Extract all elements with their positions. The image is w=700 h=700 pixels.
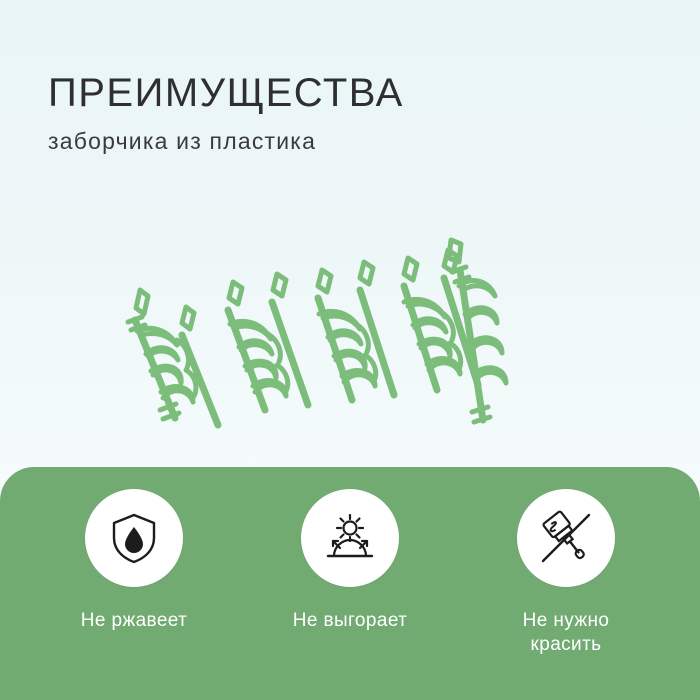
benefit-caption: Не выгорает (293, 609, 408, 633)
benefits-row: Не ржавеет (0, 489, 700, 657)
water-drop-shield-icon (106, 510, 162, 566)
page-subtitle: заборчика из пластика (48, 128, 648, 155)
benefit-icon-circle (85, 489, 183, 587)
paint-brush-crossed-icon (537, 509, 595, 567)
benefit-no-rust: Не ржавеет (49, 489, 219, 657)
product-image (0, 170, 700, 470)
page-title: ПРЕИМУЩЕСТВА (48, 72, 648, 114)
benefit-icon-circle (301, 489, 399, 587)
promo-banner: ПРЕИМУЩЕСТВА заборчика из пластика (0, 0, 700, 700)
benefit-caption: Не нужно красить (523, 609, 610, 657)
benefit-caption: Не ржавеет (81, 609, 188, 633)
benefit-no-fade: Не выгорает (265, 489, 435, 657)
sun-uv-icon (320, 510, 380, 566)
fence-illustration (0, 170, 700, 470)
benefits-panel: Не ржавеет (0, 467, 700, 700)
benefit-no-painting: Не нужно красить (481, 489, 651, 657)
headline-block: ПРЕИМУЩЕСТВА заборчика из пластика (48, 72, 648, 155)
benefit-icon-circle (517, 489, 615, 587)
